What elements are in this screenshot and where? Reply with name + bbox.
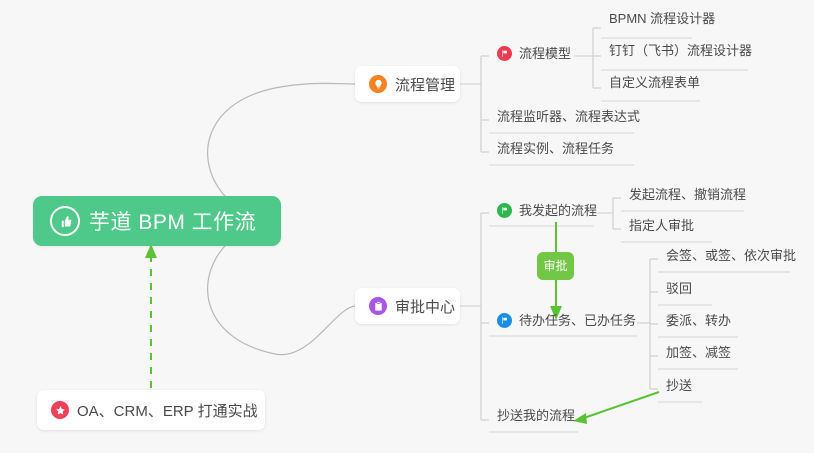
node-custom-process-form[interactable]: 自定义流程表单: [601, 76, 708, 93]
node-label-add-remove-sign: 加签、减签: [666, 346, 731, 359]
node-process-model[interactable]: 流程模型: [489, 46, 579, 65]
node-label-reject: 驳回: [666, 282, 692, 295]
node-bpmn-designer[interactable]: BPMN 流程设计器: [601, 12, 723, 29]
flag-icon: [497, 203, 512, 218]
root-node[interactable]: 芋道 BPM 工作流: [33, 196, 281, 246]
node-delegate-transfer[interactable]: 委派、转办: [658, 314, 739, 331]
branch-node-approval-center[interactable]: 审批中心: [355, 288, 460, 324]
star-icon: [51, 401, 69, 419]
floating-label-oa-crm-erp: OA、CRM、ERP 打通实战: [77, 400, 258, 421]
node-process-instance-task[interactable]: 流程实例、流程任务: [489, 142, 622, 159]
node-label-custom-process-form: 自定义流程表单: [609, 76, 700, 89]
flag-icon: [497, 46, 512, 61]
node-add-remove-sign[interactable]: 加签、减签: [658, 346, 739, 363]
node-label-dingtalk-feishu-designer: 钉钉（飞书）流程设计器: [609, 44, 752, 57]
thumbs-up-icon: [50, 206, 80, 236]
flag-icon: [497, 313, 512, 328]
branch-node-process-management[interactable]: 流程管理: [355, 66, 460, 102]
node-countersign-or-sequential[interactable]: 会签、或签、依次审批: [658, 249, 804, 266]
node-process-listener-expression[interactable]: 流程监听器、流程表达式: [489, 110, 648, 127]
node-cc-to-me-process[interactable]: 抄送我的流程: [489, 409, 583, 426]
node-todo-done-task[interactable]: 待办任务、已办任务: [489, 313, 644, 332]
node-carbon-copy[interactable]: 抄送: [658, 379, 700, 396]
branch-label-process-management: 流程管理: [395, 74, 455, 95]
node-dingtalk-feishu-designer[interactable]: 钉钉（飞书）流程设计器: [601, 44, 760, 61]
lightbulb-icon: [369, 75, 387, 93]
mindmap-canvas: 芋道 BPM 工作流 流程管理 流程模型 BPMN 流程设计器 钉钉（飞书）流程…: [0, 0, 814, 453]
floating-node-oa-crm-erp[interactable]: OA、CRM、ERP 打通实战: [37, 390, 265, 430]
node-label-bpmn-designer: BPMN 流程设计器: [609, 12, 715, 25]
node-assignee-approval[interactable]: 指定人审批: [621, 219, 702, 236]
node-label-carbon-copy: 抄送: [666, 379, 692, 392]
node-label-todo-done-task: 待办任务、已办任务: [519, 314, 636, 327]
node-label-assignee-approval: 指定人审批: [629, 219, 694, 232]
node-reject[interactable]: 驳回: [658, 282, 700, 299]
annotation-tag-approve: 审批: [537, 252, 574, 280]
node-label-countersign-or-sequential: 会签、或签、依次审批: [666, 249, 796, 262]
branch-label-approval-center: 审批中心: [395, 296, 455, 317]
node-label-delegate-transfer: 委派、转办: [666, 314, 731, 327]
node-label-process-listener-expression: 流程监听器、流程表达式: [497, 110, 640, 123]
node-start-cancel-process[interactable]: 发起流程、撤销流程: [621, 188, 754, 205]
node-label-start-cancel-process: 发起流程、撤销流程: [629, 188, 746, 201]
annotation-tag-approve-label: 审批: [543, 260, 567, 272]
node-label-cc-to-me-process: 抄送我的流程: [497, 409, 575, 422]
node-my-initiated-process[interactable]: 我发起的流程: [489, 203, 605, 222]
node-label-process-instance-task: 流程实例、流程任务: [497, 142, 614, 155]
root-label: 芋道 BPM 工作流: [89, 206, 256, 236]
node-label-process-model: 流程模型: [519, 47, 571, 60]
clipboard-icon: [369, 297, 387, 315]
node-label-my-initiated-process: 我发起的流程: [519, 204, 597, 217]
